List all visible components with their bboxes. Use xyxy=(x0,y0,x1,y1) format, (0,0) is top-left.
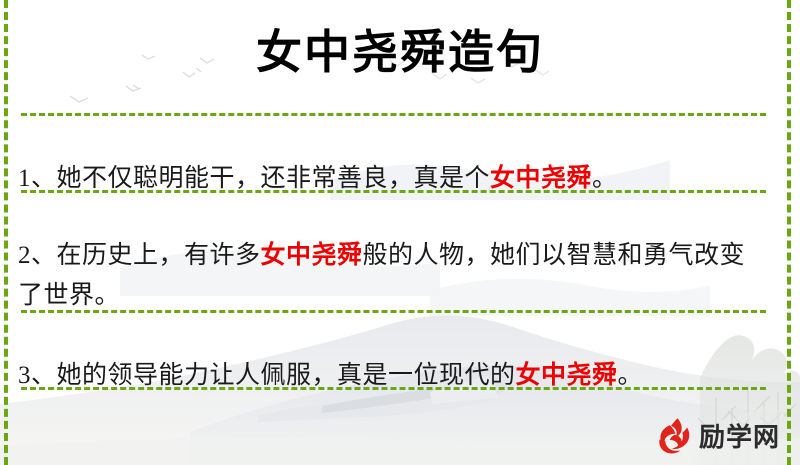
frame-border-right xyxy=(787,0,791,465)
sentence-index-2: 2、 xyxy=(18,242,57,269)
divider-4 xyxy=(21,387,766,390)
sentence-text-before-3: 她的领导能力让人佩服，真是一位现代的 xyxy=(57,362,516,389)
sentence-worksheet-page: 女中尧舜造句 1、她不仅聪明能干，还非常善良，真是个女中尧舜。 2、在历史上，有… xyxy=(0,0,800,465)
sentence-text-before-2: 在历史上，有许多 xyxy=(57,242,261,269)
frame-border-left xyxy=(4,0,8,465)
sentence-text-after-3: 。 xyxy=(618,362,644,389)
sentence-text-after-1: 。 xyxy=(592,165,618,192)
sentence-text-before-1: 她不仅聪明能干，还非常善良，真是个 xyxy=(57,165,491,192)
divider-2 xyxy=(21,190,766,193)
worksheet-content: 女中尧舜造句 1、她不仅聪明能干，还非常善良，真是个女中尧舜。 2、在历史上，有… xyxy=(0,0,800,465)
sentence-index-1: 1、 xyxy=(18,165,57,192)
divider-3 xyxy=(21,310,766,313)
site-watermark-logo: 励学网 xyxy=(653,412,783,458)
divider-1 xyxy=(21,113,766,116)
sentence-index-3: 3、 xyxy=(18,362,57,389)
sentence-item-2: 2、在历史上，有许多女中尧舜般的人物，她们以智慧和勇气改变了世界。 xyxy=(18,236,770,316)
flame-swirl-icon xyxy=(653,415,693,455)
keyword-highlight-2: 女中尧舜 xyxy=(261,242,363,269)
page-title: 女中尧舜造句 xyxy=(0,24,800,80)
sentence-item-3: 3、她的领导能力让人佩服，真是一位现代的女中尧舜。 xyxy=(18,356,770,396)
sentence-item-1: 1、她不仅聪明能干，还非常善良，真是个女中尧舜。 xyxy=(18,159,770,199)
keyword-highlight-1: 女中尧舜 xyxy=(490,165,592,192)
keyword-highlight-3: 女中尧舜 xyxy=(516,362,618,389)
watermark-text: 励学网 xyxy=(699,417,780,454)
